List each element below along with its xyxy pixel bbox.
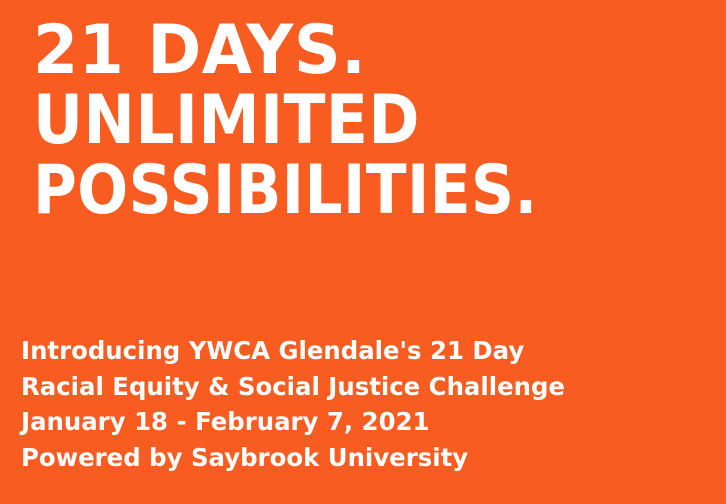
body-line-program-name: Racial Equity & Social Justice Challenge [21, 369, 694, 405]
headline-line-2: UNLIMITED [33, 86, 630, 156]
headline-block: 21 DAYS. UNLIMITED POSSIBILITIES. [33, 16, 693, 226]
body-line-program-intro: Introducing YWCA Glendale's 21 Day [21, 333, 694, 369]
body-line-date-range: January 18 - February 7, 2021 [21, 404, 694, 440]
promo-poster: 21 DAYS. UNLIMITED POSSIBILITIES. Introd… [0, 0, 726, 504]
headline-line-3: POSSIBILITIES. [33, 156, 614, 226]
body-line-sponsor: Powered by Saybrook University [21, 440, 694, 476]
headline-line-1: 21 DAYS. [33, 16, 663, 86]
body-text-block: Introducing YWCA Glendale's 21 Day Racia… [21, 333, 711, 475]
